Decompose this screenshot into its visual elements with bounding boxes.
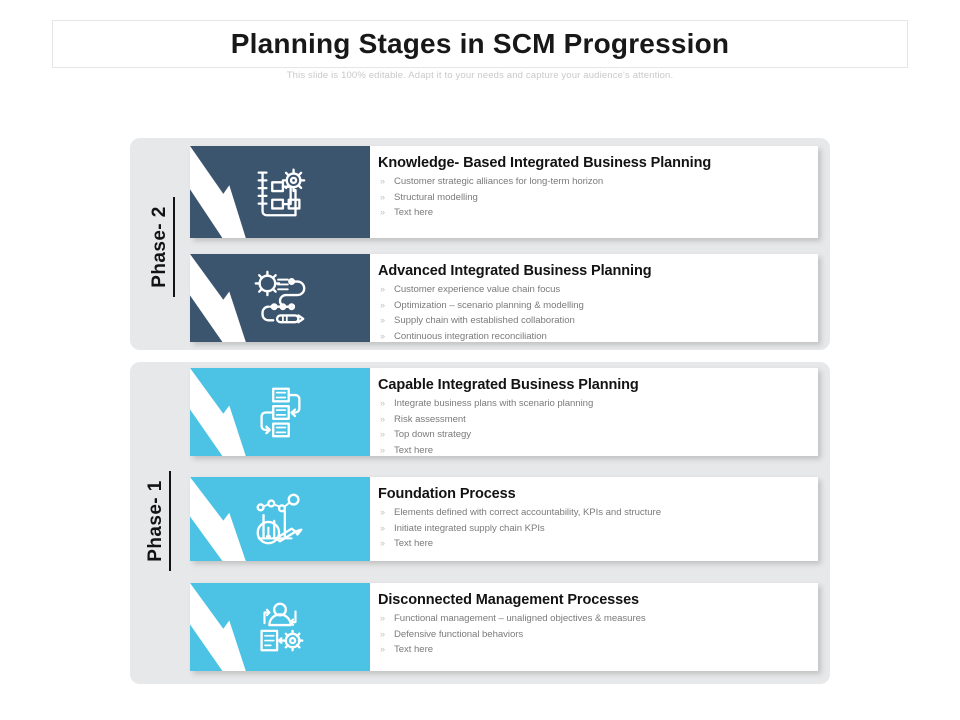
phase-label-1: Phase- 1 [145,471,171,571]
chevron-marker-icon: » [378,521,394,536]
list-item: »Structural modelling [378,190,804,206]
list-item: »Customer strategic alliances for long-t… [378,174,804,190]
chevron-marker-icon: » [378,427,394,442]
list-item: »Risk assessment [378,412,804,428]
flowchart-gear-icon [249,161,311,223]
stage-content: Disconnected Management Processes »Funct… [370,583,818,671]
slide-subtitle: This slide is 100% editable. Adapt it to… [0,70,960,81]
stage-title: Foundation Process [378,486,804,502]
stage-graphic [190,368,370,456]
list-item: »Defensive functional behaviors [378,627,804,643]
stage-graphic [190,477,370,561]
chevron-marker-icon: » [378,298,394,313]
list-item: »Integrate business plans with scenario … [378,396,804,412]
stage-graphic [190,254,370,342]
gear-workflow-pencil-icon [249,267,311,329]
bullet-text: Text here [394,206,433,221]
stage-row[interactable]: Disconnected Management Processes »Funct… [190,583,818,671]
chevron-marker-icon: » [378,396,394,411]
bar-chart-gauge-pencil-icon [249,488,311,550]
list-item: »Customer experience value chain focus [378,282,804,298]
stage-row[interactable]: Capable Integrated Business Planning »In… [190,368,818,456]
chevron-marker-icon: » [378,190,394,205]
list-item: »Text here [378,443,804,457]
list-item: »Elements defined with correct accountab… [378,505,804,521]
list-item: »Initiate integrated supply chain KPIs [378,521,804,537]
list-item: »Top down strategy [378,427,804,443]
stage-row[interactable]: Advanced Integrated Business Planning »C… [190,254,818,342]
list-item: »Supply chain with established collabora… [378,313,804,329]
chevron-marker-icon: » [378,611,394,626]
bullet-text: Structural modelling [394,191,478,206]
bullet-text: Elements defined with correct accountabi… [394,506,661,521]
chevron-marker-icon: » [378,536,394,551]
stage-content: Knowledge- Based Integrated Business Pla… [370,146,818,238]
chevron-marker-icon: » [378,443,394,457]
bullet-text: Integrate business plans with scenario p… [394,397,593,412]
chevron-marker-icon: » [378,282,394,297]
chevron-marker-icon: » [378,205,394,220]
chevron-marker-icon: » [378,412,394,427]
list-item: »Optimization – scenario planning & mode… [378,298,804,314]
bullet-text: Defensive functional behaviors [394,628,523,643]
stage-row[interactable]: Knowledge- Based Integrated Business Pla… [190,146,818,238]
stage-content: Foundation Process »Elements defined wit… [370,477,818,561]
bullet-text: Initiate integrated supply chain KPIs [394,522,545,537]
person-gear-document-icon [249,596,311,658]
stage-graphic [190,146,370,238]
stage-bullet-list: »Customer experience value chain focus »… [378,282,804,342]
bullet-text: Customer experience value chain focus [394,283,560,298]
page-title: Planning Stages in SCM Progression [231,28,729,60]
stage-title: Disconnected Management Processes [378,592,804,608]
stage-title: Capable Integrated Business Planning [378,377,804,393]
stage-content: Advanced Integrated Business Planning »C… [370,254,818,342]
slide-title-box: Planning Stages in SCM Progression [52,20,908,68]
chevron-marker-icon: » [378,642,394,657]
list-item: »Text here [378,205,804,221]
stage-bullet-list: »Functional management – unaligned objec… [378,611,804,658]
bullet-text: Risk assessment [394,413,466,428]
bullet-text: Text here [394,537,433,552]
chevron-marker-icon: » [378,329,394,343]
bullet-text: Text here [394,444,433,457]
bullet-text: Optimization – scenario planning & model… [394,299,584,314]
bullet-text: Supply chain with established collaborat… [394,314,575,329]
list-item: »Text here [378,536,804,552]
bullet-text: Text here [394,643,433,658]
chevron-marker-icon: » [378,627,394,642]
chevron-marker-icon: » [378,313,394,328]
stage-graphic [190,583,370,671]
bullet-text: Continuous integration reconciliation [394,330,547,343]
chevron-marker-icon: » [378,505,394,520]
stage-title: Advanced Integrated Business Planning [378,263,804,279]
stage-content: Capable Integrated Business Planning »In… [370,368,818,456]
bullet-text: Customer strategic alliances for long-te… [394,175,603,190]
phase-label-2: Phase- 2 [149,197,175,297]
bullet-text: Top down strategy [394,428,471,443]
document-flow-icon [249,381,311,443]
stage-title: Knowledge- Based Integrated Business Pla… [378,155,804,171]
stage-row[interactable]: Foundation Process »Elements defined wit… [190,477,818,561]
chevron-marker-icon: » [378,174,394,189]
list-item: »Text here [378,642,804,658]
stage-bullet-list: »Elements defined with correct accountab… [378,505,804,552]
stage-bullet-list: »Integrate business plans with scenario … [378,396,804,456]
stage-bullet-list: »Customer strategic alliances for long-t… [378,174,804,221]
list-item: »Functional management – unaligned objec… [378,611,804,627]
list-item: »Continuous integration reconciliation [378,329,804,343]
bullet-text: Functional management – unaligned object… [394,612,646,627]
